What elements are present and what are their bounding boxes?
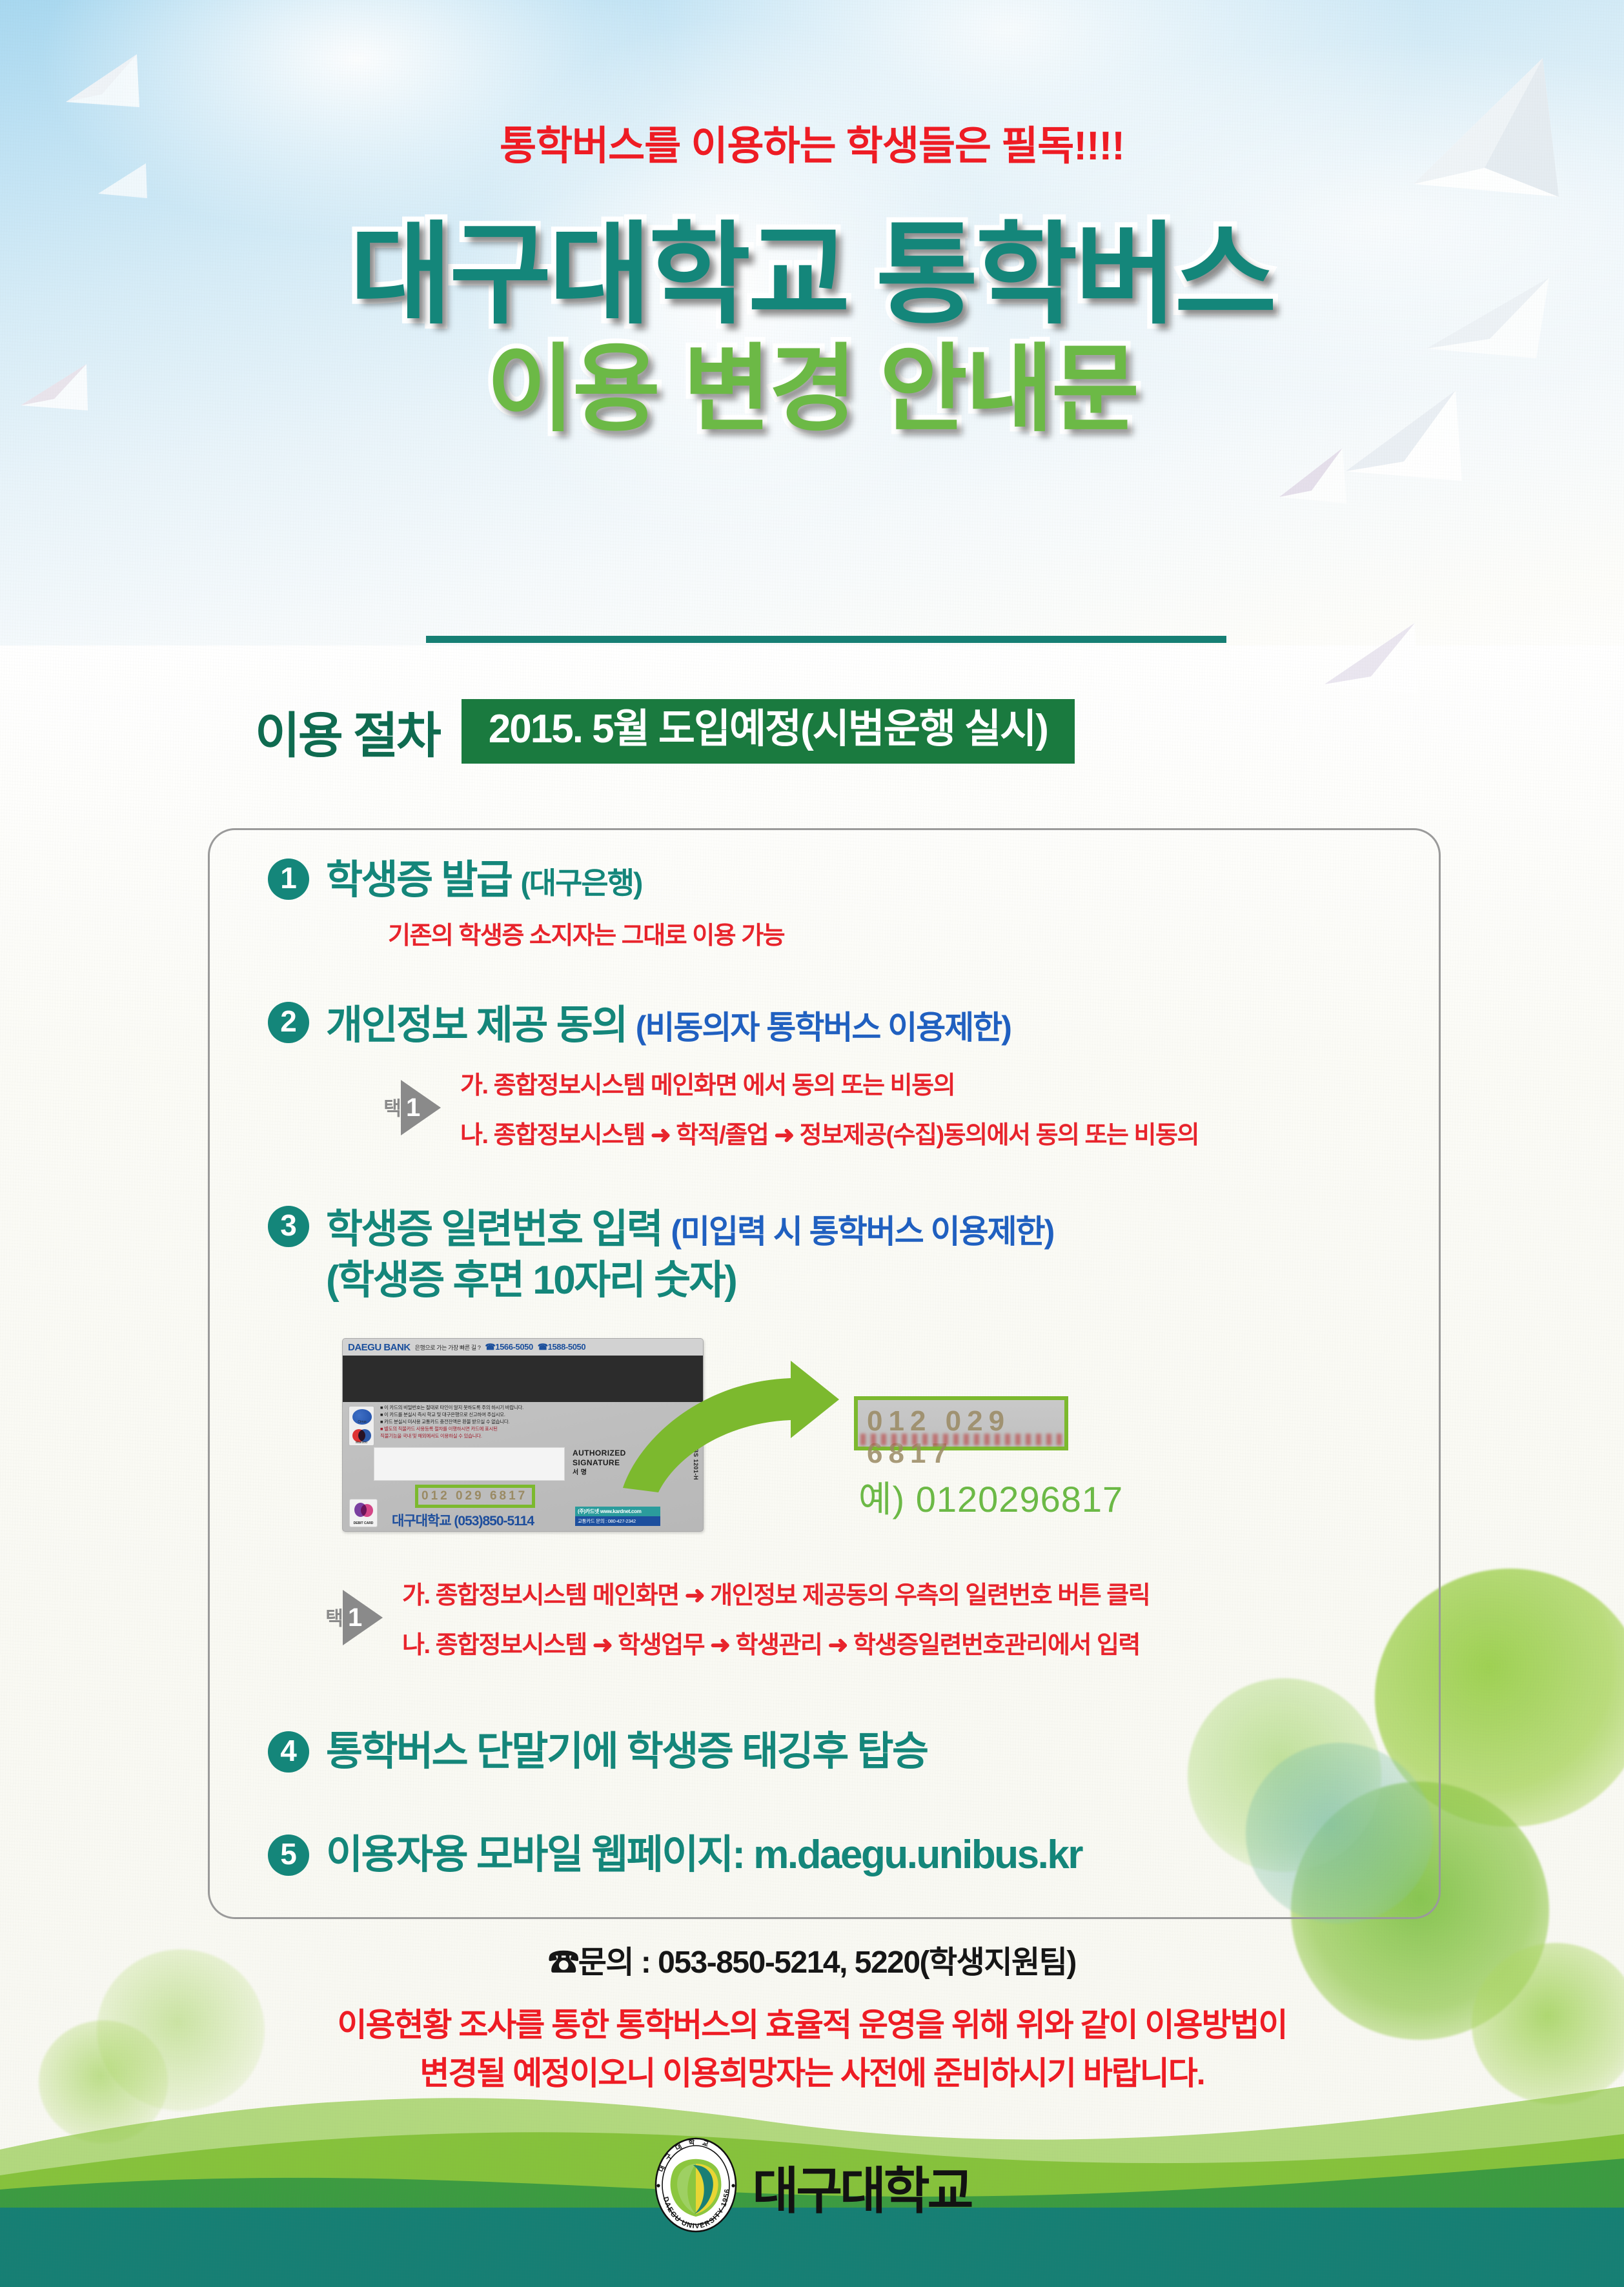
- callout-example-label: 예) 0120296817: [858, 1470, 1123, 1523]
- step-1-paren: (대구은행): [520, 860, 642, 902]
- poster-title: 대구대학교 통학버스 이용 변경 안내문: [0, 213, 1624, 446]
- university-name: 대구대학교: [753, 2151, 971, 2223]
- pick-one-badge: 택 1: [322, 1590, 383, 1645]
- pick-label: 택: [322, 1608, 341, 1627]
- card-scheme-icons: Cirrus Maestro: [349, 1406, 374, 1446]
- maestro-label: Maestro: [349, 1441, 374, 1445]
- pick-one-badge: 택 1: [380, 1080, 441, 1135]
- procedure-banner: 2015. 5월 도입예정(시범운행 실시): [462, 699, 1075, 764]
- bank-slogan: 은행으로 가는 가장 빠른 길 ?: [415, 1343, 481, 1352]
- callout-blurred-text: [860, 1434, 1062, 1445]
- debit-label: DEBIT CARD: [350, 1521, 377, 1525]
- step-3-option-b: 나. 종합정보시스템 ➜ 학생업무 ➜ 학생관리 ➜ 학생증일련번호관리에서 입…: [402, 1625, 1150, 1660]
- signature-panel: [374, 1447, 565, 1481]
- step-2-option-b: 나. 종합정보시스템 ➜ 학적/졸업 ➜ 정보제공(수집)동의에서 동의 또는 …: [460, 1115, 1199, 1150]
- pick-number: 1: [406, 1095, 420, 1121]
- title-line-2: 이용 변경 안내문: [0, 334, 1624, 447]
- university-brand: 대 구 대 학 교 DAEGU UNIVERSITY 1956 대구대학교: [0, 2137, 1624, 2237]
- step-4-title: 통학버스 단말기에 학생증 태깅후 탑승: [326, 1730, 928, 1774]
- step-5: 5 이용자용 모바일 웹페이지: m.daegu.unibus.kr: [268, 1833, 1082, 1877]
- kicker-text: 통학버스를 이용하는 학생들은 필독!!!!: [0, 113, 1624, 171]
- pick-triangle-icon: 1: [401, 1080, 441, 1135]
- step-3-title-2: (학생증 후면 10자리 숫자): [326, 1259, 1053, 1303]
- university-emblem-icon: 대 구 대 학 교 DAEGU UNIVERSITY 1956: [653, 2137, 738, 2237]
- title-line-1: 대구대학교 통학버스: [0, 213, 1624, 338]
- card-bank-header: DAEGU BANK 은행으로 가는 가장 빠른 길 ? ☎1566-5050 …: [343, 1339, 703, 1356]
- pick-number: 1: [348, 1605, 362, 1631]
- contact-line: ☎문의 : 053-850-5214, 5220(학생지원팀): [0, 1936, 1624, 1982]
- step-1-subtitle: 기존의 학생증 소지자는 그대로 이용 가능: [388, 915, 784, 951]
- procedure-header: 이용 절차 2015. 5월 도입예정(시범운행 실시): [255, 696, 1075, 767]
- title-divider: [426, 636, 1226, 643]
- university-tel: 대구대학교 (053)850-5114: [392, 1510, 534, 1530]
- step-3-option-a: 가. 종합정보시스템 메인화면 ➜ 개인정보 제공동의 우측의 일련번호 버튼 …: [402, 1575, 1150, 1611]
- step-5-title: 이용자용 모바일 웹페이지: m.daegu.unibus.kr: [326, 1833, 1082, 1877]
- procedure-label: 이용 절차: [255, 696, 440, 767]
- step-number-badge: 3: [268, 1206, 309, 1247]
- step-number-badge: 1: [268, 859, 309, 900]
- step-1: 1 학생증 발급 (대구은행) 기존의 학생증 소지자는 그대로 이용 가능: [268, 859, 784, 951]
- bank-logo: DAEGU BANK: [348, 1342, 411, 1353]
- bank-tel-2: ☎1588-5050: [538, 1342, 585, 1352]
- pick-label: 택: [380, 1098, 400, 1117]
- step-3-title: 학생증 일련번호 입력: [326, 1208, 662, 1252]
- kardnet-block: (주)카드넷 www.kardnet.com 교통카드 문의 : 080-427…: [575, 1507, 660, 1526]
- step-2-option-a: 가. 종합정보시스템 메인화면 에서 동의 또는 비동의: [460, 1065, 1199, 1101]
- debit-card-icon: DEBIT CARD: [349, 1499, 378, 1527]
- notice-line-1: 이용현황 조사를 통한 통학버스의 효율적 운영을 위해 위와 같이 이용방법이: [0, 2001, 1624, 2049]
- step-3: 3 학생증 일련번호 입력 (미입력 시 통학버스 이용제한) (학생증 후면 …: [268, 1206, 1053, 1303]
- step-2: 2 개인정보 제공 동의 (비동의자 통학버스 이용제한) 택 1 가. 종합정…: [268, 1002, 1199, 1150]
- step-3-paren: (미입력 시 통학버스 이용제한): [671, 1206, 1053, 1252]
- step-number-badge: 4: [268, 1731, 309, 1773]
- kardnet-line-1: (주)카드넷 www.kardnet.com: [575, 1507, 660, 1516]
- step-3-options: 택 1 가. 종합정보시스템 메인화면 ➜ 개인정보 제공동의 우측의 일련번호…: [322, 1575, 1150, 1660]
- notice-line-2: 변경될 예정이오니 이용희망자는 사전에 준비하시기 바랍니다.: [0, 2049, 1624, 2098]
- step-number-badge: 5: [268, 1835, 309, 1876]
- notice-block: 이용현황 조사를 통한 통학버스의 효율적 운영을 위해 위와 같이 이용방법이…: [0, 2001, 1624, 2098]
- bank-tel-1: ☎1566-5050: [485, 1342, 533, 1352]
- step-4: 4 통학버스 단말기에 학생증 태깅후 탑승: [268, 1730, 928, 1774]
- card-serial-number: 012 029 6817: [421, 1489, 527, 1503]
- step-2-paren: (비동의자 통학버스 이용제한): [636, 1002, 1011, 1048]
- step-2-title: 개인정보 제공 동의: [326, 1004, 627, 1048]
- cirrus-label: Cirrus: [352, 1420, 372, 1424]
- kardnet-line-2: 교통카드 문의 : 080-427-2342: [575, 1516, 660, 1526]
- step-number-badge: 2: [268, 1002, 309, 1043]
- serial-callout-box: 012 029 6817: [854, 1396, 1068, 1450]
- green-arrow-icon: [562, 1356, 884, 1498]
- pick-triangle-icon: 1: [343, 1590, 383, 1645]
- step-1-title: 학생증 발급: [326, 859, 511, 902]
